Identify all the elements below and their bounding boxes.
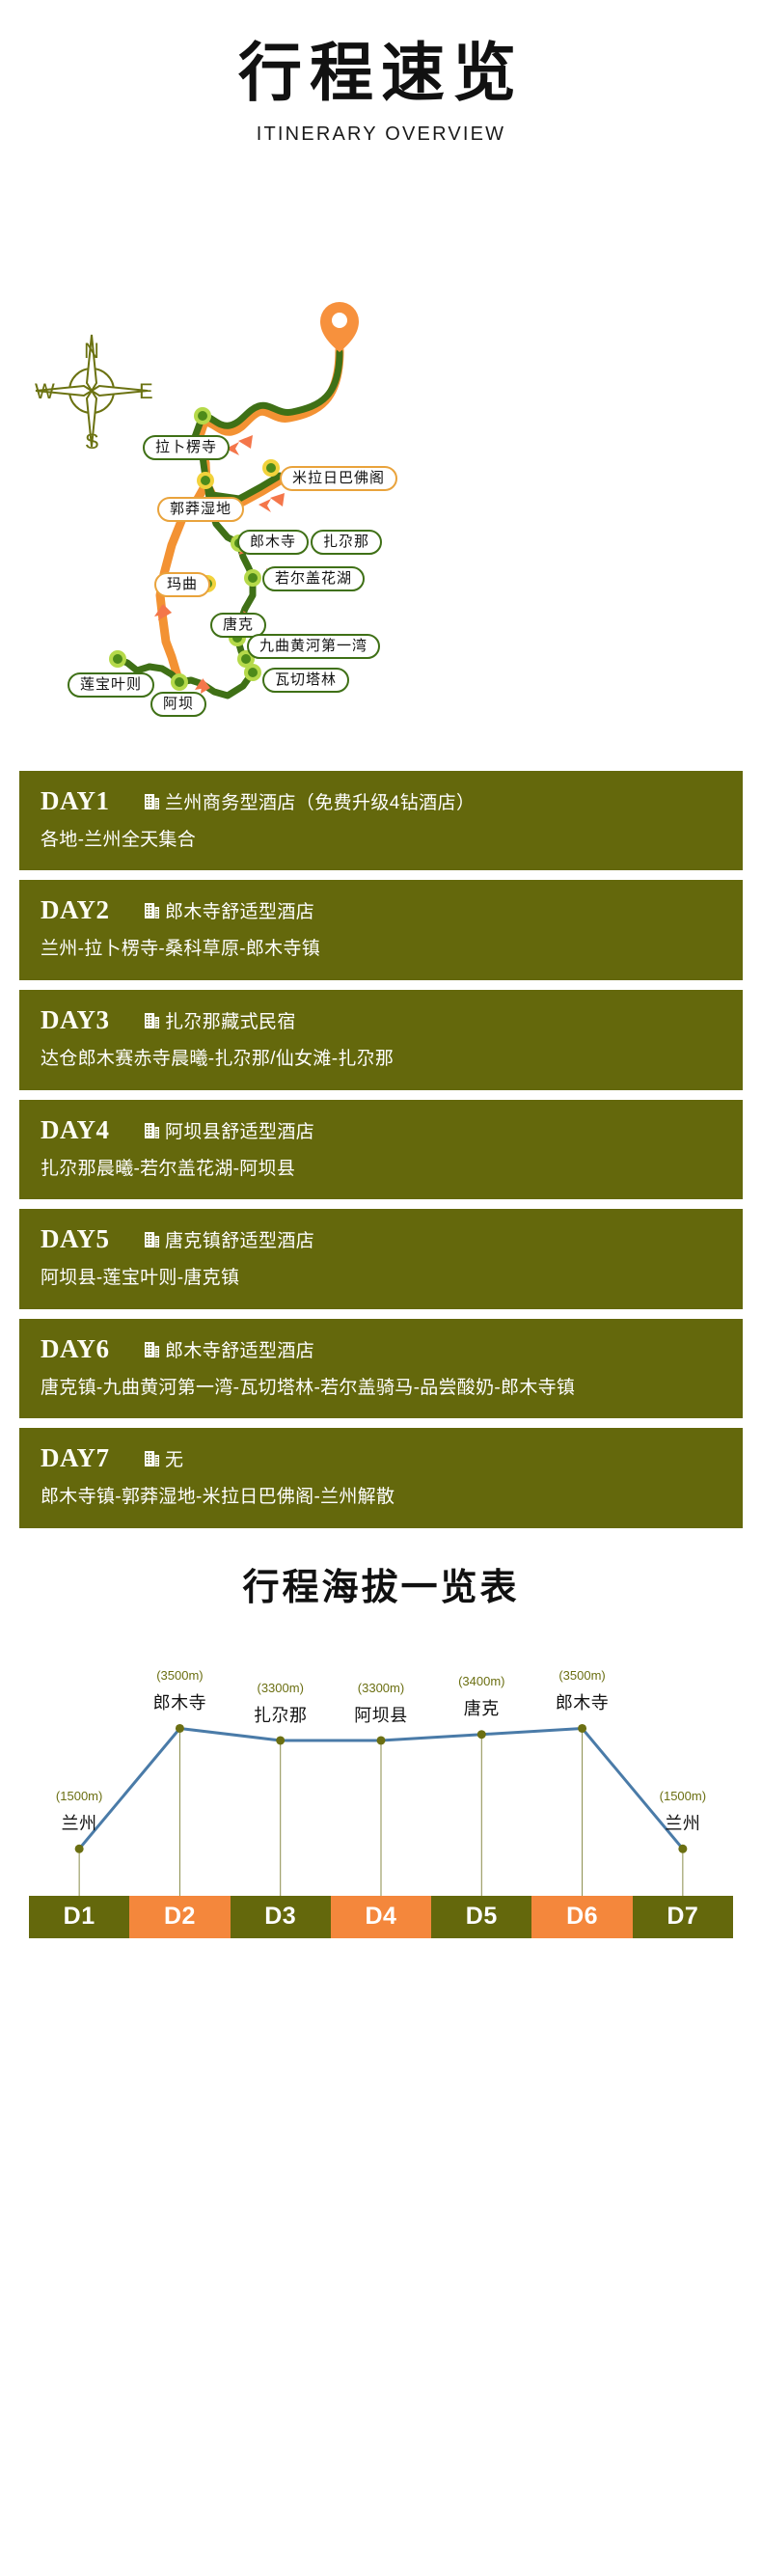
map-label-aba[interactable]: 阿坝 [150,692,206,717]
day-route: 郎木寺镇-郭莽湿地-米拉日巴佛阁-兰州解散 [41,1484,721,1511]
day-number: DAY1 [41,786,145,816]
chart-point-name: 兰州 [665,1810,700,1835]
day-card[interactable]: DAY5 唐克镇舒适型酒店 阿坝县-莲宝叶则-唐克镇 [19,1209,743,1309]
hotel-icon [145,793,159,809]
hotel-icon [145,1122,159,1138]
hotel-icon [145,1012,159,1028]
compass-label-e: E [139,379,153,404]
map-label-jiuquhuanghe[interactable]: 九曲黄河第一湾 [247,634,380,659]
chart-altitude-label: (3300m) [358,1681,404,1695]
chart-point-name: 兰州 [62,1810,97,1835]
day-number: DAY5 [41,1224,145,1254]
elevation-chart: (1500m)兰州(3500m)郎木寺(3300m)扎尕那(3300m)阿坝县(… [0,1628,762,1946]
day-axis-cell[interactable]: D7 [633,1896,733,1938]
day-route: 唐克镇-九曲黄河第一湾-瓦切塔林-若尔盖骑马-品尝酸奶-郎木寺镇 [41,1375,721,1402]
day-number: DAY2 [41,895,145,925]
page-subtitle: ITINERARY OVERVIEW [0,123,762,146]
day-card-header: DAY5 唐克镇舒适型酒店 [41,1224,721,1254]
day-hotel-text: 唐克镇舒适型酒店 [165,1226,314,1252]
day-number: DAY3 [41,1005,145,1035]
hotel-icon [145,1341,159,1357]
map-label-lianbaoyeze[interactable]: 莲宝叶则 [68,672,154,698]
chart-altitude-label: (3400m) [458,1674,504,1688]
hotel-icon [145,1450,159,1466]
day-number: DAY6 [41,1334,145,1364]
day-card-header: DAY3 扎尕那藏式民宿 [41,1005,721,1035]
map-label-maqu[interactable]: 玛曲 [154,572,210,597]
page-title: 行程速览 [0,37,762,110]
day-route: 各地-兰州全天集合 [41,827,721,854]
compass-label-s: S [85,429,99,454]
map-label-langmusi[interactable]: 郎木寺 [237,530,309,555]
compass-label-n: N [84,339,99,364]
day-card-header: DAY1 兰州商务型酒店（免费升级4钻酒店） [41,786,721,816]
day-hotel-text: 兰州商务型酒店（免费升级4钻酒店） [165,788,475,814]
day-number: DAY4 [41,1115,145,1145]
elevation-chart-title: 行程海拔一览表 [0,1557,762,1610]
day-axis-cell[interactable]: D3 [231,1896,331,1938]
day-hotel-text: 郎木寺舒适型酒店 [165,1336,314,1362]
day-hotel: 无 [145,1445,183,1471]
day-axis-cell[interactable]: D5 [431,1896,531,1938]
page-header: 行程速览 ITINERARY OVERVIEW [0,0,762,146]
day-number: DAY7 [41,1443,145,1473]
day-axis-cell[interactable]: D6 [531,1896,632,1938]
day-hotel-text: 扎尕那藏式民宿 [165,1007,296,1033]
chart-altitude-label: (3500m) [558,1668,605,1683]
day-card[interactable]: DAY1 兰州商务型酒店（免费升级4钻酒店） 各地-兰州全天集合 [19,771,743,871]
day-axis-cell[interactable]: D2 [129,1896,230,1938]
compass-label-w: W [35,379,55,404]
elevation-chart-section: 行程海拔一览表 (1500m)兰州(3500m)郎木寺(3300m)扎尕那(33… [0,1557,762,1946]
chart-altitude-label: (1500m) [660,1789,706,1803]
chart-point-name: 唐克 [464,1695,500,1720]
day-card[interactable]: DAY7 无 郎木寺镇-郭莽湿地-米拉日巴佛阁-兰州解散 [19,1428,743,1528]
map-label-guomang[interactable]: 郭莽湿地 [157,497,244,522]
day-hotel: 兰州商务型酒店（免费升级4钻酒店） [145,788,475,814]
chart-point-name: 郎木寺 [556,1689,610,1714]
day-axis-cell[interactable]: D1 [29,1896,129,1938]
day-card-header: DAY6 郎木寺舒适型酒店 [41,1334,721,1364]
day-card-header: DAY4 阿坝县舒适型酒店 [41,1115,721,1145]
itinerary-day-list: DAY1 兰州商务型酒店（免费升级4钻酒店） 各地-兰州全天集合 DAY2 郎木… [0,771,762,1528]
chart-point-name: 阿坝县 [354,1702,408,1727]
hotel-icon [145,1231,159,1247]
day-route: 阿坝县-莲宝叶则-唐克镇 [41,1265,721,1292]
map-label-milariba[interactable]: 米拉日巴佛阁 [280,466,397,491]
hotel-icon [145,902,159,918]
day-route: 兰州-拉卜楞寺-桑科草原-郎木寺镇 [41,936,721,963]
day-hotel-text: 阿坝县舒适型酒店 [165,1117,314,1143]
day-card[interactable]: DAY4 阿坝县舒适型酒店 扎尕那晨曦-若尔盖花湖-阿坝县 [19,1100,743,1200]
day-card-header: DAY2 郎木寺舒适型酒店 [41,895,721,925]
chart-altitude-label: (3500m) [156,1668,203,1683]
day-hotel: 郎木寺舒适型酒店 [145,1336,314,1362]
map-label-huahu[interactable]: 若尔盖花湖 [262,566,365,591]
map-label-labuleng[interactable]: 拉卜楞寺 [143,435,230,460]
day-axis-bar: D1D2D3D4D5D6D7 [29,1896,733,1938]
map-label-waqietalin[interactable]: 瓦切塔林 [262,668,349,693]
day-card-header: DAY7 无 [41,1443,721,1473]
map-pin-icon [320,302,359,352]
map-label-zhagana[interactable]: 扎尕那 [311,530,382,555]
day-hotel: 唐克镇舒适型酒店 [145,1226,314,1252]
day-route: 达仓郎木赛赤寺晨曦-扎尕那/仙女滩-扎尕那 [41,1046,721,1073]
chart-altitude-label: (3300m) [257,1681,303,1695]
chart-point-name: 扎尕那 [254,1702,308,1727]
day-hotel: 郎木寺舒适型酒店 [145,897,314,923]
chart-altitude-label: (1500m) [56,1789,102,1803]
day-card[interactable]: DAY2 郎木寺舒适型酒店 兰州-拉卜楞寺-桑科草原-郎木寺镇 [19,880,743,980]
route-map: N W E S 拉卜楞寺 米拉日巴佛阁 郭莽湿地 郎木寺 扎尕那 若尔盖花湖 玛… [0,159,762,767]
day-route: 扎尕那晨曦-若尔盖花湖-阿坝县 [41,1156,721,1183]
day-axis-cell[interactable]: D4 [331,1896,431,1938]
day-hotel-text: 无 [165,1445,183,1471]
day-hotel: 扎尕那藏式民宿 [145,1007,296,1033]
day-card[interactable]: DAY6 郎木寺舒适型酒店 唐克镇-九曲黄河第一湾-瓦切塔林-若尔盖骑马-品尝酸… [19,1319,743,1419]
chart-point-name: 郎木寺 [153,1689,207,1714]
day-hotel: 阿坝县舒适型酒店 [145,1117,314,1143]
chart-stem-lines [79,1728,683,1896]
day-hotel-text: 郎木寺舒适型酒店 [165,897,314,923]
day-card[interactable]: DAY3 扎尕那藏式民宿 达仓郎木赛赤寺晨曦-扎尕那/仙女滩-扎尕那 [19,990,743,1090]
